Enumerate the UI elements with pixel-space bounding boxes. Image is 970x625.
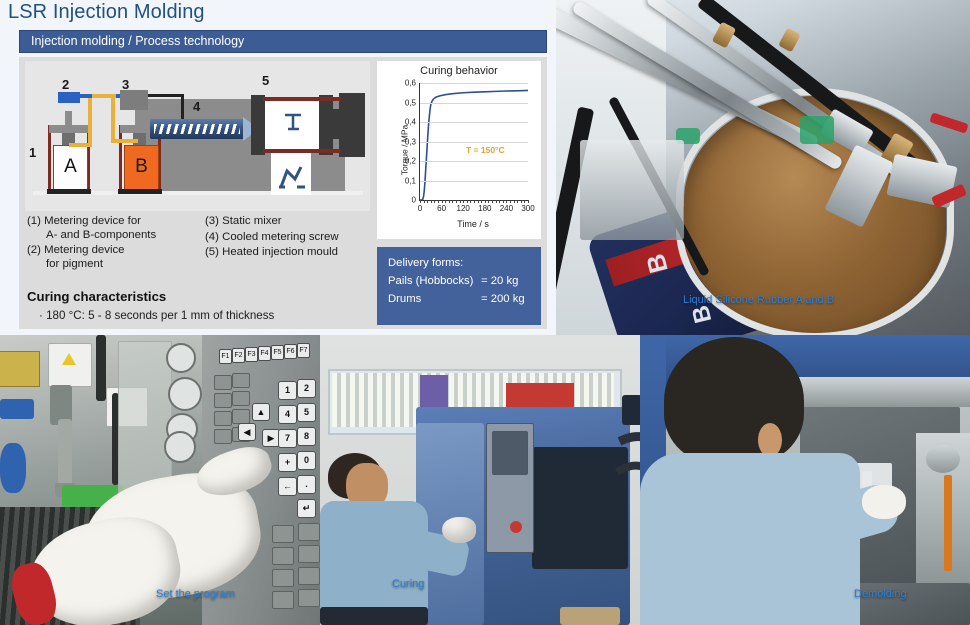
- curing-behavior-chart: Curing behavior Torque / MPa T = 150°C 0…: [377, 61, 541, 239]
- legend-item-2: (2) Metering device for pigment: [27, 244, 197, 271]
- key-f7[interactable]: F7: [297, 343, 310, 358]
- bl-column: [58, 419, 72, 487]
- chart-x-minor-tick: [470, 200, 471, 203]
- delivery-row1-label: Pails (Hobbocks): [388, 275, 473, 287]
- key-back[interactable]: ←: [278, 477, 297, 496]
- chart-x-minor-tick: [431, 200, 432, 203]
- feed-line-a-elbow: [69, 143, 92, 147]
- chart-x-minor-tick: [492, 200, 493, 203]
- photo-set-program: F1 F2 F3 F4 F5 F6 F7 ▲ ◀ ▶ 1 2 4 5 7: [0, 335, 320, 625]
- key-f6[interactable]: F6: [284, 344, 297, 359]
- pigment-inlet: [58, 92, 80, 103]
- bl-soft-key-6[interactable]: [232, 409, 250, 424]
- chart-x-minor-tick: [528, 200, 529, 203]
- bl-lower-key-5[interactable]: [272, 569, 294, 587]
- key-f4[interactable]: F4: [258, 346, 271, 361]
- cooled-metering-screw: [150, 119, 246, 139]
- feed-line-b: [111, 98, 115, 142]
- mixer-outlet-line: [148, 94, 184, 97]
- key-4[interactable]: 4: [278, 405, 297, 424]
- key-8[interactable]: 8: [297, 427, 316, 446]
- section-subtitle-bar: Injection molding / Process technology: [19, 30, 547, 53]
- legend-item-3: (3) Static mixer: [205, 215, 370, 229]
- br-worker-head: [664, 337, 804, 465]
- chart-gridline: [420, 161, 528, 162]
- mould-heater-top: [263, 97, 341, 101]
- caption-demolding: Demolding: [854, 588, 907, 600]
- tr-pump-assembly: [580, 140, 684, 240]
- key-enter[interactable]: ↵: [297, 499, 316, 518]
- chart-x-minor-tick: [438, 200, 439, 203]
- br-orange-cable: [944, 475, 952, 571]
- bl-gauge-1: [166, 343, 196, 373]
- chart-x-minor-tick: [445, 200, 446, 203]
- chart-x-minor-tick: [499, 200, 500, 203]
- feed-line-a: [88, 98, 92, 146]
- legend-2-l2: for pigment: [27, 258, 197, 272]
- pail-a-label: A: [54, 156, 87, 178]
- bl-gauge-2: [168, 377, 202, 411]
- key-2[interactable]: 2: [297, 379, 316, 398]
- feed-line-top: [92, 94, 116, 98]
- legend-4-num: (4): [205, 231, 219, 243]
- key-plus[interactable]: +: [278, 453, 297, 472]
- legend-item-5: (5) Heated injection mould: [205, 246, 370, 260]
- delivery-forms-box: Delivery forms: Pails (Hobbocks) = 20 kg…: [377, 247, 541, 325]
- photo-drums-metering: B B Liquid Silicone Rubber A and B: [556, 0, 970, 335]
- chart-y-tick: 0,3: [405, 137, 416, 146]
- chart-x-minor-tick: [510, 200, 511, 203]
- caption-set-program: Set the program: [156, 588, 235, 600]
- chart-x-minor-tick: [463, 200, 464, 203]
- chart-x-tick: 120: [457, 204, 470, 213]
- bl-cable-1: [96, 335, 106, 401]
- chart-y-tick: 0,2: [405, 157, 416, 166]
- legend-1-l2: A- and B-components: [27, 229, 197, 243]
- bl-blue-part: [0, 399, 34, 419]
- chart-plot-area: T = 150°C 00,10,20,30,40,50,606012018024…: [419, 83, 528, 201]
- chart-x-minor-tick: [424, 200, 425, 203]
- key-0[interactable]: 0: [297, 451, 316, 470]
- chart-x-minor-tick: [488, 200, 489, 203]
- key-7[interactable]: 7: [278, 429, 297, 448]
- chart-x-minor-tick: [442, 200, 443, 203]
- key-f1[interactable]: F1: [219, 349, 232, 364]
- legend-3-l1: Static mixer: [222, 215, 282, 227]
- warning-triangle-icon: [62, 353, 76, 365]
- delivery-row1-value: = 20 kg: [481, 275, 518, 287]
- bl-lower-key-3[interactable]: [272, 547, 294, 565]
- bm-display: [492, 431, 528, 475]
- legend-3-num: (3): [205, 215, 219, 227]
- bm-emergency-stop[interactable]: [510, 521, 522, 533]
- bm-worker-glove: [442, 517, 476, 543]
- pail-b: B: [124, 145, 159, 191]
- chart-x-minor-tick: [427, 200, 428, 203]
- content-panel: 1 2 3 4 5 A: [19, 57, 547, 329]
- chart-title: Curing behavior: [377, 65, 541, 77]
- mixer-downpipe: [181, 94, 184, 120]
- section-subtitle-text: Injection molding / Process technology: [31, 34, 244, 48]
- bm-worker-trousers: [320, 607, 428, 625]
- bm-wood-block: [560, 607, 620, 625]
- key-f2[interactable]: F2: [232, 348, 245, 363]
- curing-characteristics-item: · 180 °C: 5 - 8 seconds per 1 mm of thic…: [39, 309, 274, 322]
- chart-x-minor-tick: [514, 200, 515, 203]
- slide-panel: LSR Injection Molding Injection molding …: [0, 0, 556, 335]
- chart-x-minor-tick: [478, 200, 479, 203]
- feed-line-b-elbow: [111, 139, 138, 143]
- chart-y-tick: 0: [412, 196, 416, 205]
- photo-demolding: Demolding: [640, 335, 970, 625]
- chart-y-tick: 0,4: [405, 118, 416, 127]
- delivery-row2-label: Drums: [388, 293, 421, 305]
- chart-x-minor-tick: [452, 200, 453, 203]
- br-worker-ear: [758, 423, 782, 457]
- arrow-left-key[interactable]: ◀: [238, 423, 256, 441]
- bl-white-box-1: [48, 343, 92, 387]
- chart-x-minor-tick: [506, 200, 507, 203]
- key-1[interactable]: 1: [278, 381, 297, 400]
- chart-y-tick: 0,6: [405, 79, 416, 88]
- tr-fitting-brass-2: [778, 28, 801, 53]
- bm-red-object: [506, 383, 574, 407]
- chart-x-tick: 60: [437, 204, 446, 213]
- chart-x-minor-tick: [496, 200, 497, 203]
- legend-2-num: (2): [27, 244, 41, 256]
- legend-2-l1: Metering device: [44, 244, 124, 256]
- chart-x-minor-tick: [449, 200, 450, 203]
- bl-lower-key-1[interactable]: [272, 525, 294, 543]
- caption-drums: Liquid Silicone Rubber A and B: [683, 294, 834, 306]
- diagram-label-1: 1: [29, 145, 36, 160]
- chart-x-tick: 0: [418, 204, 422, 213]
- chart-x-minor-tick: [517, 200, 518, 203]
- chart-x-minor-tick: [503, 200, 504, 203]
- legend-1-l1: Metering device for: [44, 215, 141, 227]
- chart-x-minor-tick: [481, 200, 482, 203]
- diagram-label-4: 4: [193, 99, 200, 114]
- curing-characteristics-heading: Curing characteristics: [27, 289, 166, 304]
- bl-lower-key-6[interactable]: [298, 567, 320, 585]
- bl-blue-hose: [0, 443, 26, 493]
- legend-5-num: (5): [205, 246, 219, 258]
- bm-hose-mount: [622, 395, 640, 425]
- chart-gridline: [420, 122, 528, 123]
- chart-x-axis-label: Time / s: [419, 219, 527, 229]
- mould-ram: [327, 109, 351, 139]
- diagram-label-5: 5: [262, 73, 269, 88]
- bl-soft-key-1[interactable]: [214, 375, 232, 390]
- legend-item-4: (4) Cooled metering screw: [205, 231, 370, 245]
- br-knob: [926, 445, 960, 473]
- delivery-heading: Delivery forms:: [388, 257, 463, 269]
- bl-soft-key-4[interactable]: [232, 391, 250, 406]
- caption-curing: Curing: [392, 578, 424, 590]
- chart-x-tick: 180: [478, 204, 491, 213]
- bl-soft-key-7[interactable]: [214, 429, 232, 444]
- chart-x-minor-tick: [434, 200, 435, 203]
- chart-x-minor-tick: [474, 200, 475, 203]
- page-title: LSR Injection Molding: [8, 1, 205, 24]
- bl-lower-key-8[interactable]: [298, 589, 320, 607]
- bl-soft-key-5[interactable]: [214, 411, 232, 426]
- legend-item-1: (1) Metering device for A- and B-compone…: [27, 215, 197, 242]
- chart-x-minor-tick: [467, 200, 468, 203]
- chart-gridline: [420, 181, 528, 182]
- process-diagram: 1 2 3 4 5 A: [25, 61, 370, 211]
- chart-y-tick: 0,1: [405, 176, 416, 185]
- bl-lower-key-7[interactable]: [272, 591, 294, 609]
- chart-gridline: [420, 103, 528, 104]
- bl-lower-key-4[interactable]: [298, 545, 320, 563]
- bl-soft-key-2[interactable]: [232, 373, 250, 388]
- bl-gauge-4: [164, 431, 196, 463]
- bl-cabinet-glass: [118, 341, 172, 495]
- bl-yellow-plate: [0, 351, 40, 387]
- chart-x-minor-tick: [524, 200, 525, 203]
- tr-green-cloth: [800, 116, 834, 144]
- chart-x-minor-tick: [456, 200, 457, 203]
- chart-gridline: [420, 142, 528, 143]
- chart-x-tick: 300: [521, 204, 534, 213]
- chart-x-tick: 240: [500, 204, 513, 213]
- legend-1-num: (1): [27, 215, 41, 227]
- bl-soft-key-3[interactable]: [214, 393, 232, 408]
- tr-red-handle-1: [929, 112, 968, 133]
- mould-platen-left: [251, 95, 265, 155]
- chart-x-minor-tick: [521, 200, 522, 203]
- chart-x-minor-tick: [420, 200, 421, 203]
- key-f3[interactable]: F3: [245, 347, 258, 362]
- chart-gridline: [420, 83, 528, 84]
- chart-y-axis-label: Torque / MPa: [399, 125, 409, 176]
- br-worker-glove: [862, 485, 906, 519]
- pail-b-label: B: [125, 156, 158, 178]
- legend-5-l1: Heated injection mould: [222, 246, 338, 258]
- slide-canvas: LSR Injection Molding Injection molding …: [0, 0, 970, 625]
- key-dot[interactable]: .: [297, 475, 316, 494]
- moulded-part-icon: [275, 157, 309, 191]
- chart-x-minor-tick: [485, 200, 486, 203]
- chart-y-tick: 0,5: [405, 98, 416, 107]
- bl-lower-key-2[interactable]: [298, 523, 320, 541]
- delivery-row2-value: = 200 kg: [481, 293, 525, 305]
- key-f5[interactable]: F5: [271, 345, 284, 360]
- arrow-up-key[interactable]: ▲: [252, 403, 270, 421]
- static-mixer: [120, 90, 148, 110]
- legend-4-l1: Cooled metering screw: [222, 231, 339, 243]
- cavity-part-icon: [283, 111, 309, 133]
- photo-curing: Curing: [320, 335, 640, 625]
- chart-x-minor-tick: [460, 200, 461, 203]
- pail-a: A: [53, 145, 88, 191]
- key-5[interactable]: 5: [297, 403, 316, 422]
- br-tie-bar: [790, 377, 970, 407]
